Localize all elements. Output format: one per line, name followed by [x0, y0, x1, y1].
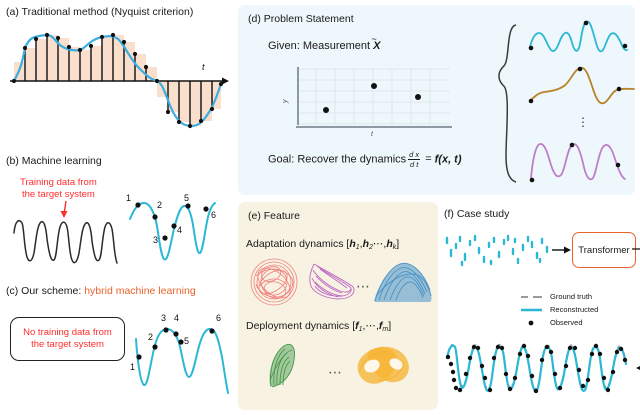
transformer-label: Transformer — [578, 245, 629, 256]
curly-brace — [496, 23, 522, 183]
deployment-f1-sub: 1 — [359, 326, 363, 333]
adaptation-close: ] — [396, 238, 399, 250]
panel-f-case-study: (f) Case study Transformer — [444, 202, 640, 412]
panel-b-curve — [130, 203, 215, 259]
panel-b-label-3: 3 — [153, 235, 158, 245]
legend-label-observed: Observed — [550, 318, 583, 327]
deployment-dots: ⋯ — [365, 320, 376, 332]
panel-f-title: (f) Case study — [444, 208, 509, 220]
attractor-yellow-icon — [350, 340, 418, 392]
panel-b-label-4: 4 — [177, 225, 182, 235]
panel-b-machine-learning: (b) Machine learning Training data from … — [6, 155, 236, 270]
legend-row-observed: Observed — [520, 316, 598, 329]
training-signal-chart — [11, 215, 121, 267]
trajectory-cyan-curve — [530, 21, 627, 51]
attractor-red-icon — [246, 256, 306, 308]
measurement-plot: y t — [278, 65, 458, 137]
trajectory-cyan — [526, 17, 636, 62]
panel-c-label-5: 5 — [184, 336, 189, 346]
panel-c-label-3: 3 — [161, 313, 166, 323]
legend-line-icon — [520, 306, 544, 314]
panel-a-traditional-method: (a) Traditional method (Nyquist criterio… — [6, 6, 231, 141]
deployment-dynamics-label: Deployment dynamics [f1,⋯,fm] — [246, 320, 391, 333]
panel-d-problem-statement: (d) Problem Statement Given: Measurement… — [238, 5, 635, 195]
legend-dash-icon — [520, 293, 544, 301]
goal-statement: Goal: Recover the dynamics d x d t =f(x,… — [268, 150, 462, 169]
panel-c-sparse-chart: 1 2 3 4 5 6 — [128, 307, 238, 402]
panel-a-axis-label: t — [202, 62, 205, 72]
input-arrow-icon — [552, 244, 572, 256]
panel-b-label-1: 1 — [126, 193, 131, 203]
goal-frac-denominator: d t — [408, 160, 420, 169]
attractor-green-icon — [262, 340, 322, 392]
measurement-xlabel: t — [371, 131, 374, 138]
reconstruction-chart — [444, 334, 630, 412]
panel-c-label-4: 4 — [174, 313, 179, 323]
sparse-input-cloud — [444, 230, 554, 270]
panel-e-title: (e) Feature — [248, 210, 300, 222]
no-training-data-box: No training data from the target system — [10, 317, 125, 361]
legend-label-reconstructed: Reconstructed — [550, 305, 598, 314]
no-training-line1: No training data from — [23, 327, 112, 339]
feedback-path — [632, 246, 640, 376]
panel-b-label-6: 6 — [211, 210, 216, 220]
goal-rhs: f(x, t) — [435, 153, 462, 165]
training-signal-curve — [14, 221, 117, 263]
trajectory-brown — [526, 63, 638, 115]
goal-equals: = — [425, 153, 431, 165]
panel-c-label-6: 6 — [216, 313, 221, 323]
panel-c-label-1: 1 — [130, 362, 135, 372]
trajectory-purple-curve — [531, 144, 625, 179]
attractor-purple-icon — [304, 256, 362, 308]
adaptation-dots: ⋯ — [373, 238, 384, 250]
trajectory-purple — [526, 135, 638, 183]
panel-d-title: (d) Problem Statement — [248, 13, 354, 25]
trajectory-purple-dots — [530, 143, 621, 183]
panel-b-label-5: 5 — [184, 193, 189, 203]
adaptation-dynamics-label: Adaptation dynamics [h1,h2⋯,hk] — [246, 238, 399, 251]
transformer-box[interactable]: Transformer — [572, 232, 636, 268]
trajectory-vdots: ⋮ — [577, 115, 589, 129]
training-data-note: Training data from the target system — [20, 177, 97, 201]
no-training-line2: the target system — [31, 339, 104, 351]
panel-c-title-accent: hybrid machine learning — [84, 285, 195, 297]
legend-label-ground-truth: Ground truth — [550, 292, 592, 301]
given-label: Given: Measurement — [268, 40, 370, 52]
panel-c-our-scheme: (c) Our scheme: hybrid machine learning … — [6, 285, 241, 410]
panel-b-title: (b) Machine learning — [6, 155, 102, 167]
training-note-line1: Training data from — [20, 177, 97, 189]
panel-c-label-2: 2 — [148, 332, 153, 342]
panel-c-title-prefix: (c) Our scheme: — [6, 285, 84, 297]
panel-e-feature: (e) Feature Adaptation dynamics [h1,h2⋯,… — [238, 202, 438, 410]
adaptation-h1-sub: 1 — [356, 244, 360, 251]
panel-b-label-2: 2 — [157, 200, 162, 210]
measurement-grid — [298, 69, 450, 124]
adaptation-ellipsis: ⋯ — [356, 278, 371, 295]
training-note-line2: the target system — [20, 189, 97, 201]
goal-label: Goal: Recover the dynamics — [268, 153, 406, 165]
panel-b-sparse-chart: 1 2 3 4 5 6 — [124, 193, 229, 268]
attractor-blue-icon — [370, 256, 436, 308]
legend-dot-icon — [520, 319, 544, 327]
panel-a-nyquist-chart — [6, 26, 231, 136]
deployment-text: Deployment dynamics [ — [246, 320, 355, 332]
trajectory-brown-curve — [530, 68, 634, 104]
goal-frac-numerator: d x — [408, 150, 420, 160]
deployment-ellipsis: ⋯ — [328, 364, 343, 381]
deployment-close: ] — [388, 320, 391, 332]
measurement-ylabel: y — [282, 99, 289, 104]
legend-row-ground-truth: Ground truth — [520, 290, 598, 303]
legend-row-reconstructed: Reconstructed — [520, 303, 598, 316]
adaptation-text: Adaptation dynamics [ — [246, 238, 349, 250]
panel-a-title: (a) Traditional method (Nyquist criterio… — [6, 6, 193, 18]
case-study-legend: Ground truth Reconstructed Observed — [520, 290, 598, 329]
measurement-points — [323, 83, 421, 113]
goal-derivative-fraction: d x d t — [408, 150, 420, 169]
panel-c-title: (c) Our scheme: hybrid machine learning — [6, 285, 196, 297]
given-statement: Given: Measurement X~ — [268, 40, 386, 52]
